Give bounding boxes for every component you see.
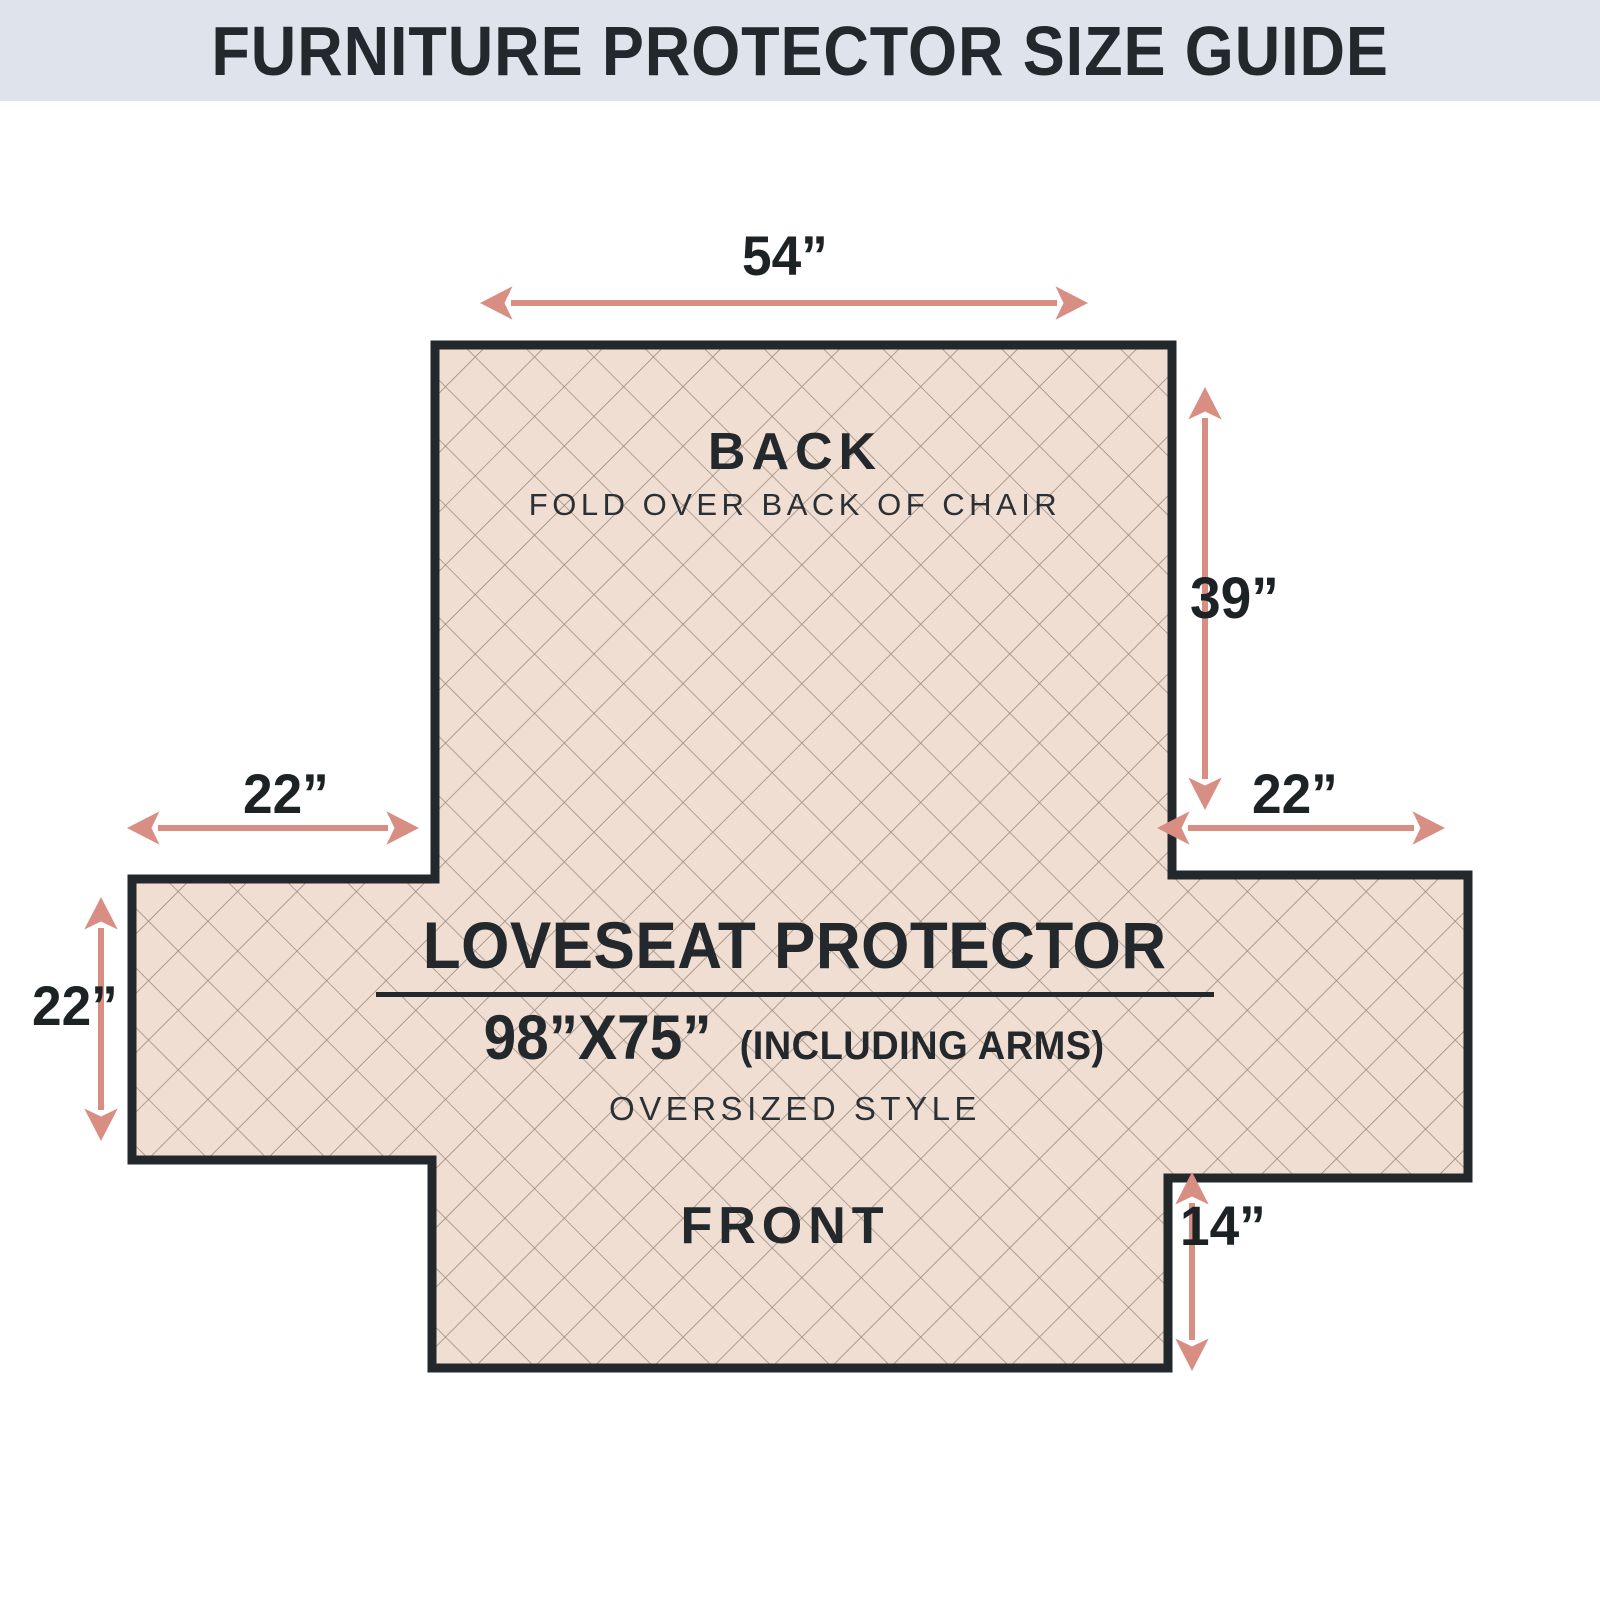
- product-title-block: LOVESEAT PROTECTOR 98”X75” (INCLUDING AR…: [0, 912, 1595, 1128]
- dimension-label-arm-left: 22”: [243, 766, 329, 822]
- size-guide-diagram: FURNITURE PROTECTOR SIZE GUIDE: [0, 0, 1600, 1600]
- product-size: 98”X75”: [484, 1007, 712, 1070]
- title-divider: [376, 992, 1214, 997]
- product-size-note: (INCLUDING ARMS): [740, 1026, 1105, 1066]
- product-name: LOVESEAT PROTECTOR: [423, 912, 1167, 978]
- dimension-label-arm-depth: 22”: [32, 978, 118, 1034]
- dimension-label-front-skirt: 14”: [1180, 1198, 1266, 1254]
- dimension-label-arm-right: 22”: [1252, 766, 1338, 822]
- product-style: OVERSIZED STYLE: [0, 1090, 1595, 1128]
- dimension-label-back-height: 39”: [1190, 570, 1279, 628]
- product-size-row: 98”X75” (INCLUDING ARMS): [0, 1007, 1595, 1070]
- dimension-label-back-width: 54”: [742, 228, 828, 284]
- front-panel-label: FRONT: [0, 1196, 1585, 1256]
- back-panel-label: BACK: [0, 422, 1595, 482]
- back-panel-sublabel: FOLD OVER BACK OF CHAIR: [0, 487, 1595, 523]
